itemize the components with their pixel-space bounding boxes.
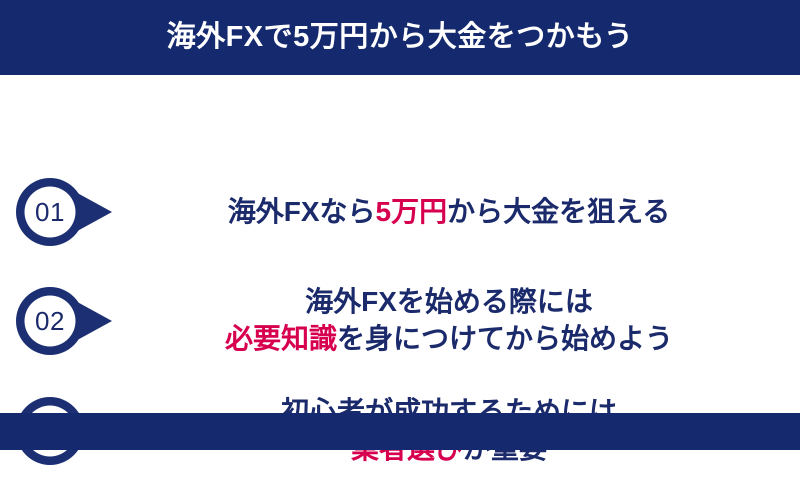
text-line: 海外FXなら5万円から大金を狙える bbox=[128, 194, 770, 231]
items-container: 01 海外FXなら5万円から大金を狙える 02 海外FX bbox=[0, 75, 800, 450]
text-segment: を身につけてから始めよう bbox=[337, 323, 673, 354]
badge-wrapper: 01 bbox=[0, 169, 128, 255]
text-segment-highlight: 必要知識 bbox=[225, 323, 337, 354]
list-item: 02 海外FXを始める際には 必要知識を身につけてから始めよう bbox=[0, 271, 800, 371]
item-text: 海外FXなら5万円から大金を狙える bbox=[128, 194, 800, 231]
item-text: 海外FXを始める際には 必要知識を身につけてから始めよう bbox=[128, 284, 800, 358]
eye-marker-icon bbox=[14, 176, 113, 248]
text-segment: 海外FXを始める際には bbox=[305, 286, 593, 317]
step-badge: 01 bbox=[14, 176, 113, 248]
page-title: 海外FXで5万円から大金をつかもう bbox=[167, 23, 634, 52]
text-line: 必要知識を身につけてから始めよう bbox=[128, 321, 770, 358]
eye-marker-icon bbox=[14, 285, 113, 357]
infographic-slide: 海外FXで5万円から大金をつかもう 01 海外FXなら5万円から大金を狙える bbox=[0, 0, 800, 450]
text-segment-highlight: 5万円 bbox=[376, 196, 448, 227]
header-bar: 海外FXで5万円から大金をつかもう bbox=[0, 0, 800, 75]
text-line: 海外FXを始める際には bbox=[128, 284, 770, 321]
text-segment: 海外FXなら bbox=[228, 196, 376, 227]
text-segment: から大金を狙える bbox=[447, 196, 670, 227]
step-badge: 02 bbox=[14, 285, 113, 357]
badge-wrapper: 02 bbox=[0, 271, 128, 371]
list-item: 01 海外FXなら5万円から大金を狙える bbox=[0, 169, 800, 255]
footer-bar bbox=[0, 413, 800, 450]
